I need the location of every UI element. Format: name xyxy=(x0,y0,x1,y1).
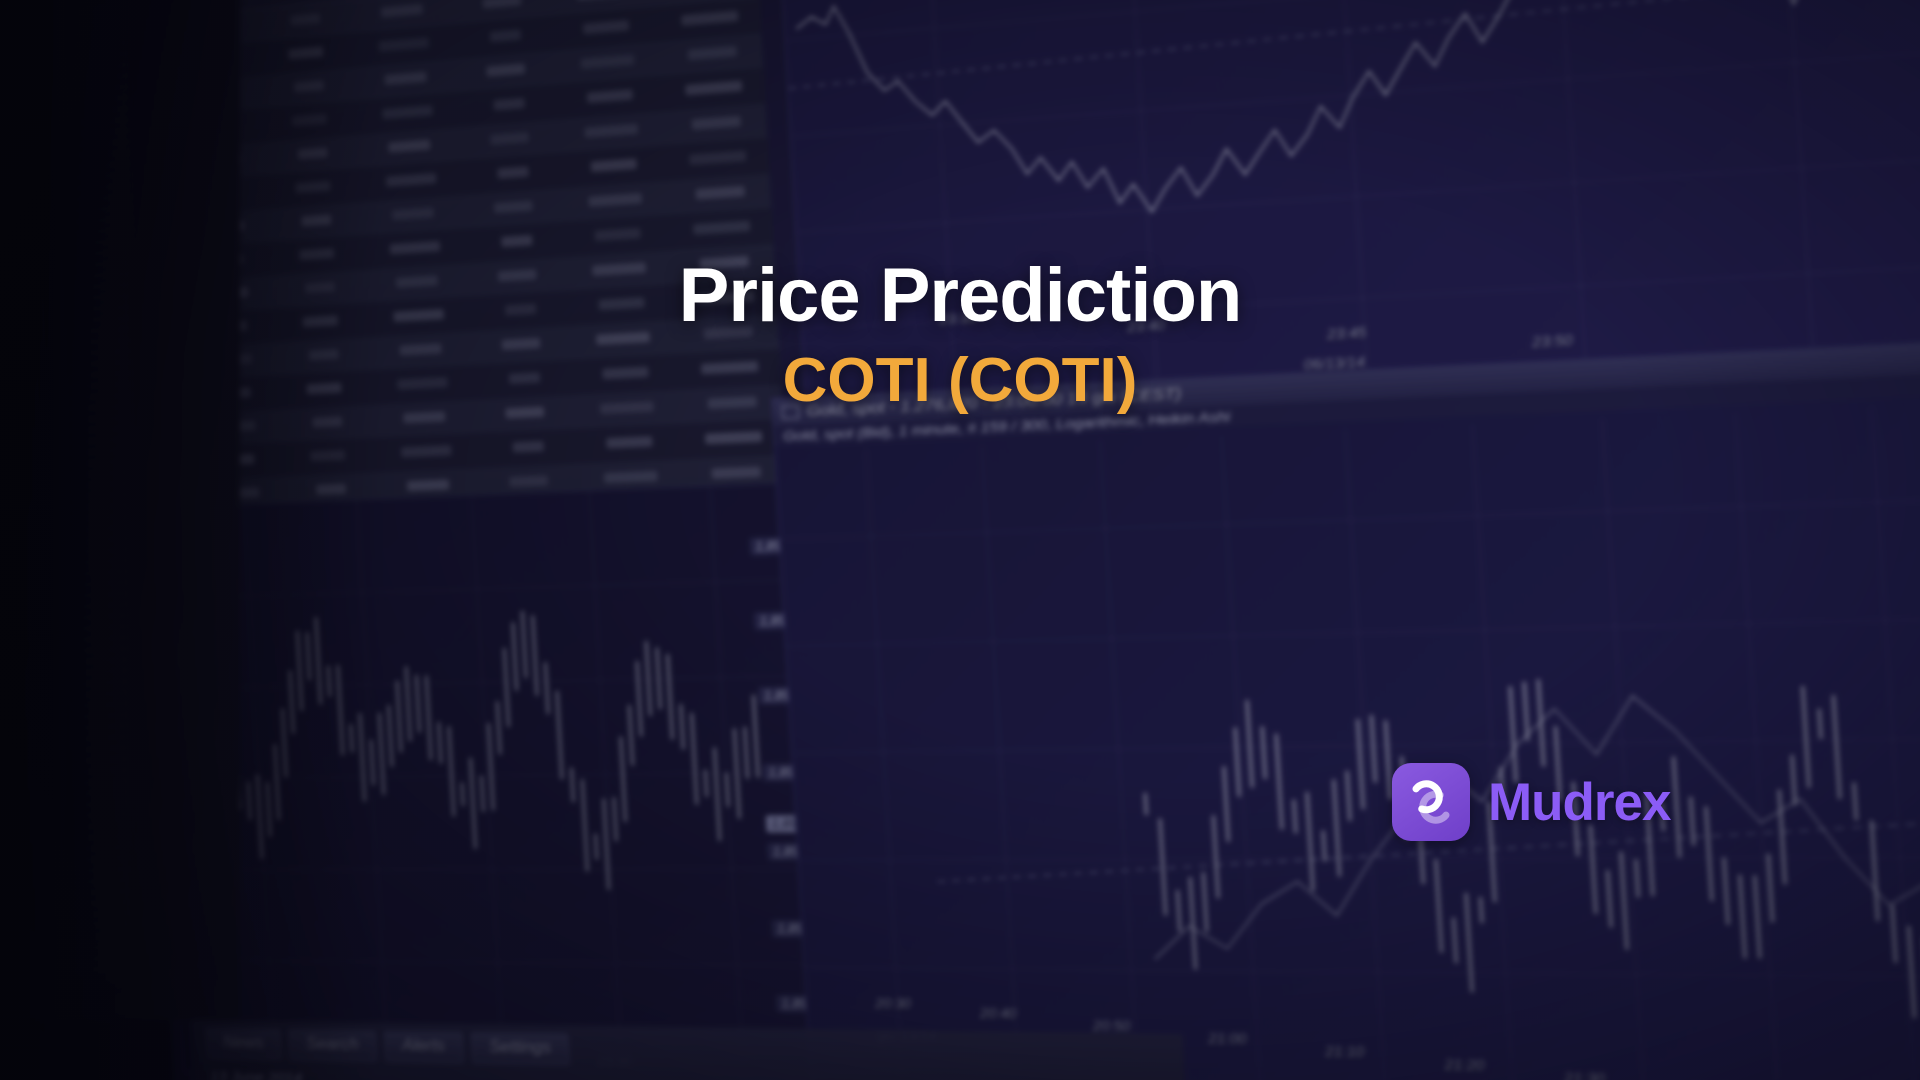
text-overlay: Price Prediction COTI (COTI) Mudrex xyxy=(0,0,1920,1080)
screenshot-root: EUR/USD - 1,35379 - 00:00:00 14 giu (EES… xyxy=(0,0,1920,1080)
chain-link-icon xyxy=(1405,776,1457,828)
page-subtitle: COTI (COTI) xyxy=(0,345,1920,416)
mudrex-brand-logo: Mudrex xyxy=(1392,763,1670,841)
mudrex-mark xyxy=(1392,763,1470,841)
page-title: Price Prediction xyxy=(0,252,1920,339)
mudrex-wordmark: Mudrex xyxy=(1488,772,1670,833)
